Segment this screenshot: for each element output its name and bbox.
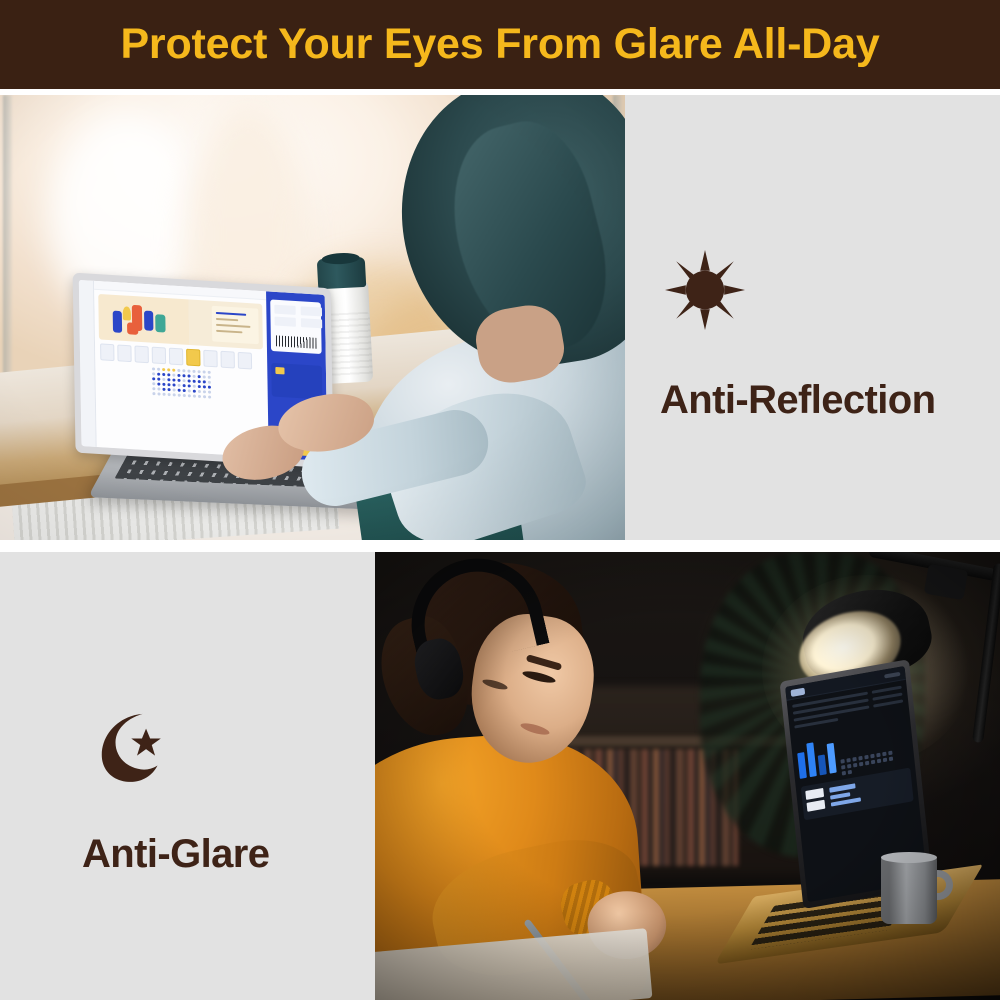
laptop-night [745, 664, 1000, 951]
hero-illustration [98, 294, 263, 350]
feature-panel-anti-reflection: Anti-Reflection [625, 95, 1000, 540]
window-frame [3, 95, 12, 380]
person-night [375, 561, 713, 1000]
feature-label-anti-reflection: Anti-Reflection [660, 378, 935, 423]
feature-content: Anti-Reflection [663, 250, 935, 423]
bar-chart [796, 735, 837, 779]
coffee-mug [875, 852, 949, 928]
sun-icon [663, 250, 747, 330]
menu-icon [884, 672, 900, 679]
feature-panel-anti-glare: Anti-Glare [0, 552, 375, 1000]
feature-label-anti-glare: Anti-Glare [82, 832, 269, 877]
crescent-moon-star-icon [85, 704, 171, 786]
feature-content: Anti-Glare [85, 704, 269, 877]
app-logo-icon [791, 688, 806, 697]
app-main [94, 281, 269, 458]
night-scene-photo [375, 552, 1000, 1000]
page-title: Protect Your Eyes From Glare All-Day [120, 20, 879, 69]
seat-map [101, 364, 261, 401]
header-banner: Protect Your Eyes From Glare All-Day [0, 0, 1000, 89]
day-scene-photo [0, 95, 625, 540]
